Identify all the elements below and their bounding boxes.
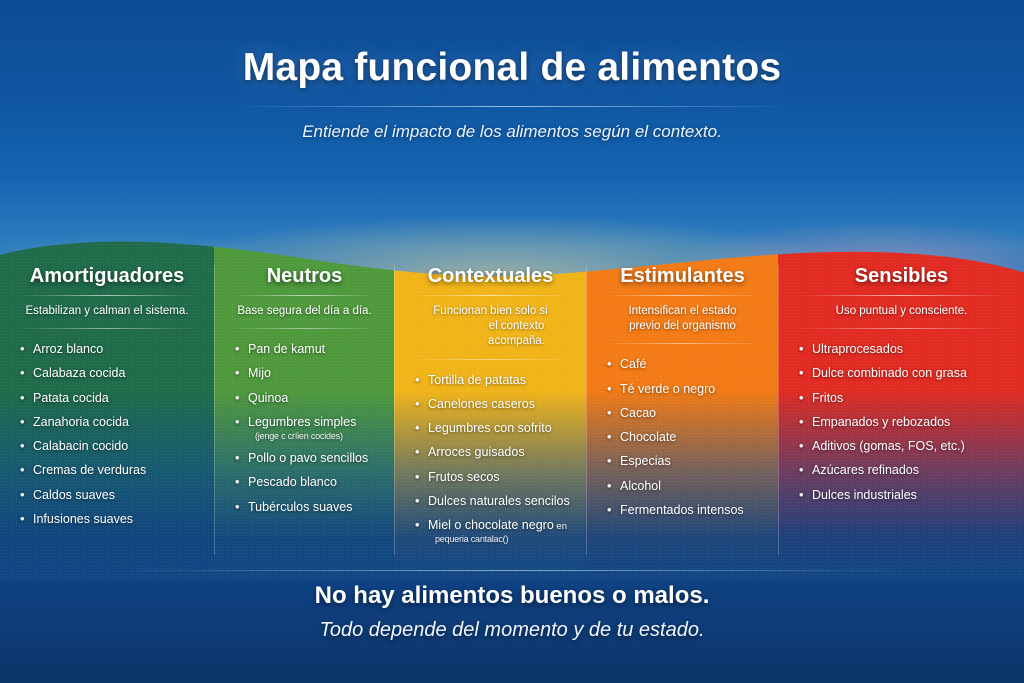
list-item-inline-note: en: [554, 521, 567, 532]
infographic-poster: Mapa funcional de alimentos Entiende el …: [0, 0, 1024, 683]
list-item[interactable]: Dulces naturales sencilos: [415, 494, 572, 509]
list-item[interactable]: Empanados y rebozados: [799, 415, 1010, 430]
list-item-note: (jenge c críien cocides): [248, 431, 380, 442]
list-item[interactable]: Frutos secos: [415, 470, 572, 485]
list-item[interactable]: Fermentados intensos: [607, 503, 764, 518]
heading-rule: [235, 295, 374, 296]
poster-header: Mapa funcional de alimentos Entiende el …: [0, 0, 1024, 142]
list-item[interactable]: Canelones caseros: [415, 397, 572, 412]
list-item[interactable]: Tubérculos suaves: [235, 500, 380, 515]
column-heading: Amortiguadores: [14, 265, 200, 288]
column-amortiguadores[interactable]: AmortiguadoresEstabilizan y calman el si…: [0, 265, 214, 555]
column-sensibles[interactable]: SensiblesUso puntual y consciente.Ultrap…: [778, 265, 1024, 555]
list-item[interactable]: Pollo o pavo sencillos: [235, 451, 380, 466]
column-item-list: Pan de kamutMijoQuinoaLegumbres simples(…: [235, 342, 380, 515]
list-item[interactable]: Pescado blanco: [235, 475, 380, 490]
list-item[interactable]: Pan de kamut: [235, 342, 380, 357]
list-item[interactable]: Alcohol: [607, 479, 764, 494]
heading-rule: [20, 295, 194, 296]
footer-divider: [110, 570, 914, 571]
subtitle-rule: [233, 328, 376, 329]
list-item[interactable]: Café: [607, 357, 764, 372]
list-item[interactable]: Dulces industriales: [799, 488, 1010, 503]
list-item[interactable]: Mijo: [235, 366, 380, 381]
column-subtitle-line-2: previo del organismo: [601, 319, 764, 334]
list-item[interactable]: Dulce combinado con grasa: [799, 366, 1010, 381]
footer-line-2: Todo depende del momento y de tu estado.: [0, 619, 1024, 642]
list-item[interactable]: Legumbres simples(jenge c críien cocides…: [235, 415, 380, 442]
list-item[interactable]: Patata cocida: [20, 391, 200, 406]
list-item[interactable]: Ultraprocesados: [799, 342, 1010, 357]
list-item[interactable]: Caldos suaves: [20, 488, 200, 503]
list-item[interactable]: Arroces guisados: [415, 445, 572, 460]
column-neutros[interactable]: NeutrosBase segura del día a día.Pan de …: [214, 265, 394, 555]
column-subtitle-line-2: el contexto acompaña.: [409, 319, 572, 349]
list-item[interactable]: Fritos: [799, 391, 1010, 406]
column-subtitle: Uso puntual y consciente.: [793, 304, 1010, 319]
poster-footer: No hay alimentos buenos o malos. Todo de…: [0, 582, 1024, 642]
list-item[interactable]: Miel o chocolate negro enpequeria cantal…: [415, 518, 572, 545]
list-item[interactable]: Legumbres con sofrito: [415, 421, 572, 436]
column-item-list: CaféTé verde o negroCacaoChocolateEspeci…: [607, 357, 764, 518]
heading-rule: [799, 295, 1004, 296]
list-item[interactable]: Aditivos (gomas, FOS, etc.): [799, 439, 1010, 454]
column-subtitle: Funcionan bien solo siel contexto acompa…: [409, 304, 572, 350]
list-item[interactable]: Arroz blanco: [20, 342, 200, 357]
page-subtitle: Entiende el impacto de los alimentos seg…: [0, 122, 1024, 142]
heading-rule: [415, 295, 566, 296]
subtitle-rule: [413, 359, 568, 360]
subtitle-rule: [18, 328, 196, 329]
column-subtitle: Base segura del día a día.: [229, 304, 380, 319]
heading-rule: [607, 295, 758, 296]
column-contextuales[interactable]: ContextualesFuncionan bien solo siel con…: [394, 265, 586, 555]
list-item[interactable]: Cremas de verduras: [20, 463, 200, 478]
list-item-note: pequeria cantalac(): [428, 534, 572, 545]
list-item[interactable]: Calabaza cocida: [20, 366, 200, 381]
list-item[interactable]: Chocolate: [607, 430, 764, 445]
subtitle-rule: [797, 328, 1006, 329]
subtitle-rule: [605, 343, 760, 344]
column-heading: Estimulantes: [601, 265, 764, 288]
column-heading: Neutros: [229, 265, 380, 288]
list-item[interactable]: Zanahoria cocida: [20, 415, 200, 430]
category-columns: AmortiguadoresEstabilizan y calman el si…: [0, 265, 1024, 555]
column-subtitle: Estabilizan y calman el sistema.: [14, 304, 200, 319]
page-title: Mapa funcional de alimentos: [0, 46, 1024, 90]
column-subtitle: Intensifican el estadoprevio del organis…: [601, 304, 764, 334]
column-item-list: UltraprocesadosDulce combinado con grasa…: [799, 342, 1010, 503]
column-item-list: Arroz blancoCalabaza cocidaPatata cocida…: [20, 342, 200, 527]
title-divider: [231, 106, 793, 107]
column-heading: Sensibles: [793, 265, 1010, 288]
list-item[interactable]: Quinoa: [235, 391, 380, 406]
list-item[interactable]: Calabacin cocido: [20, 439, 200, 454]
list-item[interactable]: Infusiones suaves: [20, 512, 200, 527]
list-item[interactable]: Especias: [607, 454, 764, 469]
column-estimulantes[interactable]: EstimulantesIntensifican el estadoprevio…: [586, 265, 778, 555]
list-item[interactable]: Azúcares refinados: [799, 463, 1010, 478]
list-item[interactable]: Cacao: [607, 406, 764, 421]
list-item[interactable]: Tortilla de patatas: [415, 373, 572, 388]
footer-line-1: No hay alimentos buenos o malos.: [0, 582, 1024, 610]
column-heading: Contextuales: [409, 265, 572, 288]
list-item[interactable]: Té verde o negro: [607, 382, 764, 397]
column-item-list: Tortilla de patatasCanelones caserosLegu…: [415, 373, 572, 546]
